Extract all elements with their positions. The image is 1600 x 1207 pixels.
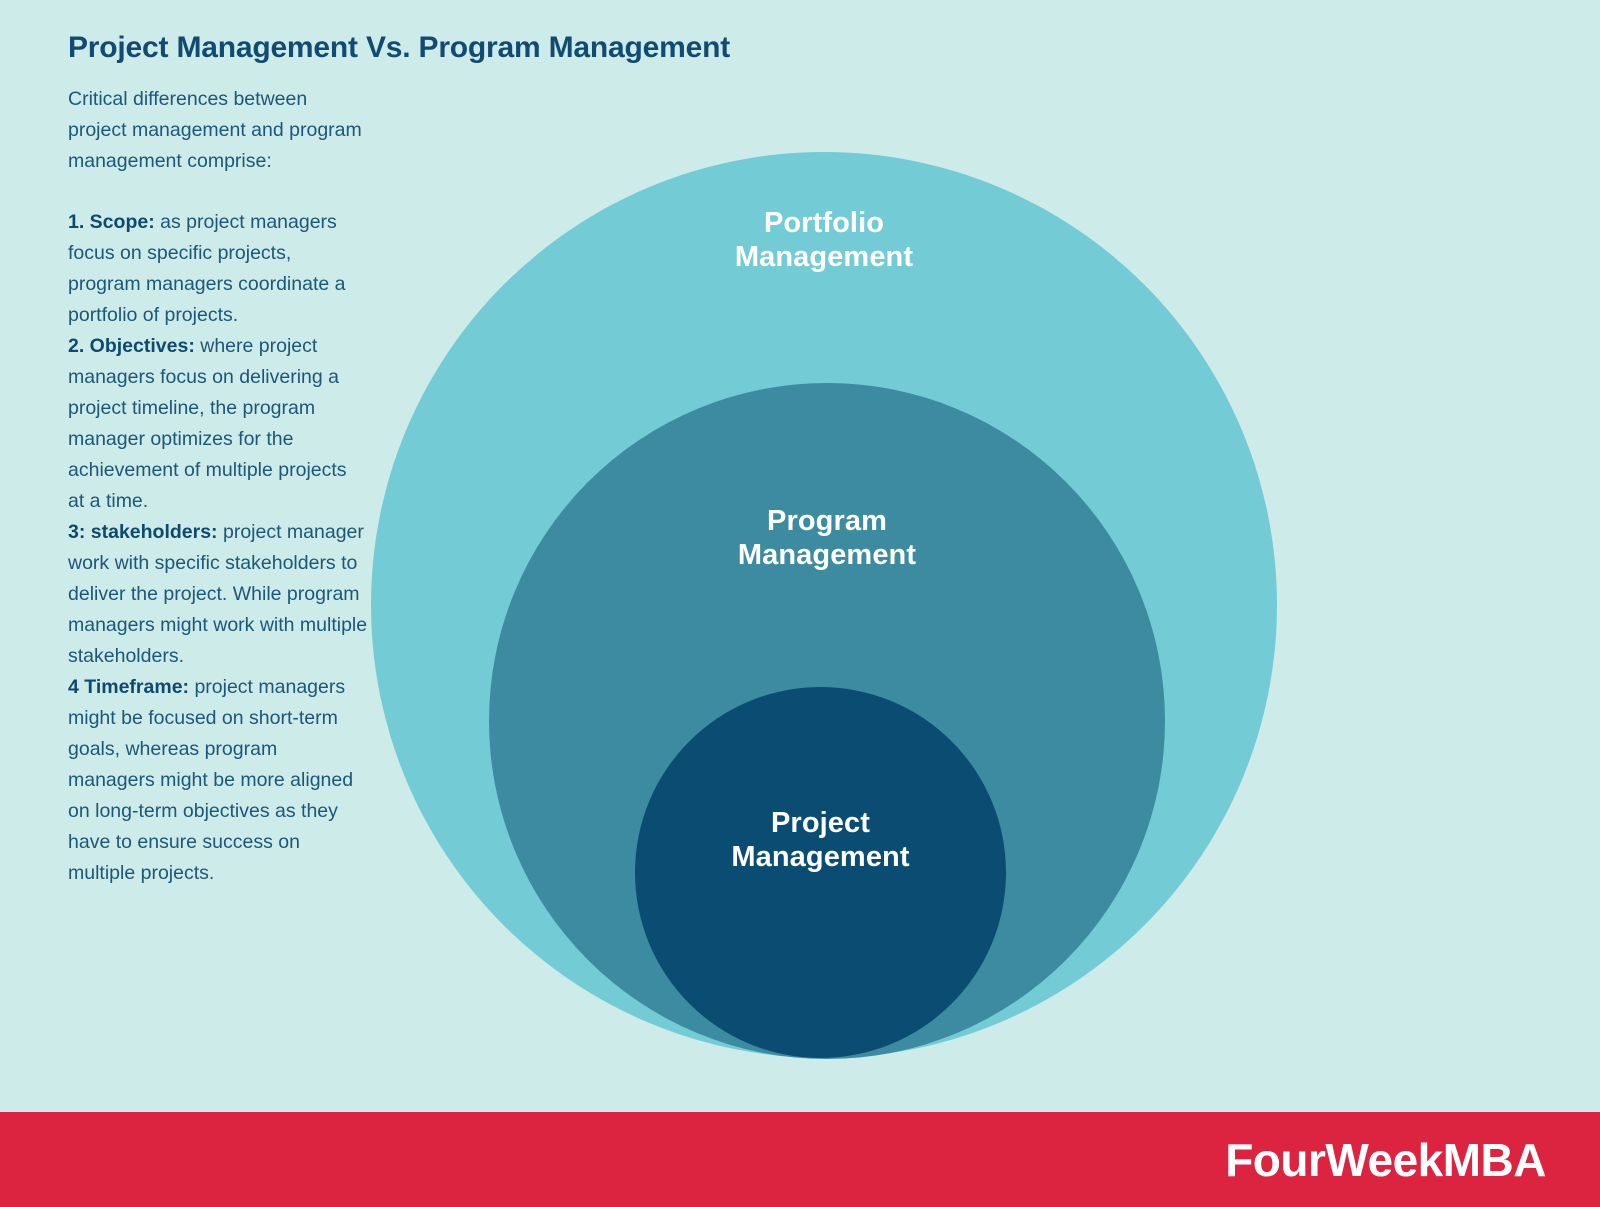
list-item-label: 2. Objectives: bbox=[68, 335, 195, 357]
project-management-circle: Project Management bbox=[635, 687, 1006, 1058]
list-item-label: 4 Timeframe: bbox=[68, 676, 189, 698]
project-management-label-line1: Project bbox=[731, 806, 909, 840]
portfolio-management-label: Portfolio Management bbox=[735, 206, 913, 274]
list-item: 2. Objectives: where project managers fo… bbox=[68, 331, 368, 517]
intro-paragraph: Critical differences between project man… bbox=[68, 84, 368, 177]
program-management-label: Program Management bbox=[738, 504, 916, 572]
text-column: Project Management Vs. Program Managemen… bbox=[68, 30, 368, 889]
program-management-label-line1: Program bbox=[738, 504, 916, 538]
program-management-label-line2: Management bbox=[738, 538, 916, 572]
list-item-label: 1. Scope: bbox=[68, 211, 155, 233]
footer-band: FourWeekMBA bbox=[0, 1112, 1600, 1207]
project-management-label: Project Management bbox=[731, 806, 909, 874]
list-item: 3: stakeholders: project manager work wi… bbox=[68, 517, 368, 672]
list-item-label: 3: stakeholders: bbox=[68, 521, 218, 543]
difference-list: 1. Scope: as project managers focus on s… bbox=[68, 207, 368, 889]
portfolio-management-label-line1: Portfolio bbox=[735, 206, 913, 240]
list-item-text: where project managers focus on deliveri… bbox=[68, 335, 347, 512]
page-title: Project Management Vs. Program Managemen… bbox=[68, 30, 368, 66]
list-item: 1. Scope: as project managers focus on s… bbox=[68, 207, 368, 331]
project-management-label-line2: Management bbox=[731, 840, 909, 874]
brand-logo: FourWeekMBA bbox=[1225, 1133, 1546, 1187]
list-item-text: project managers might be focused on sho… bbox=[68, 676, 353, 884]
list-item: 4 Timeframe: project managers might be f… bbox=[68, 672, 368, 889]
infographic-canvas: Project Management Vs. Program Managemen… bbox=[0, 0, 1600, 1207]
portfolio-management-label-line2: Management bbox=[735, 240, 913, 274]
